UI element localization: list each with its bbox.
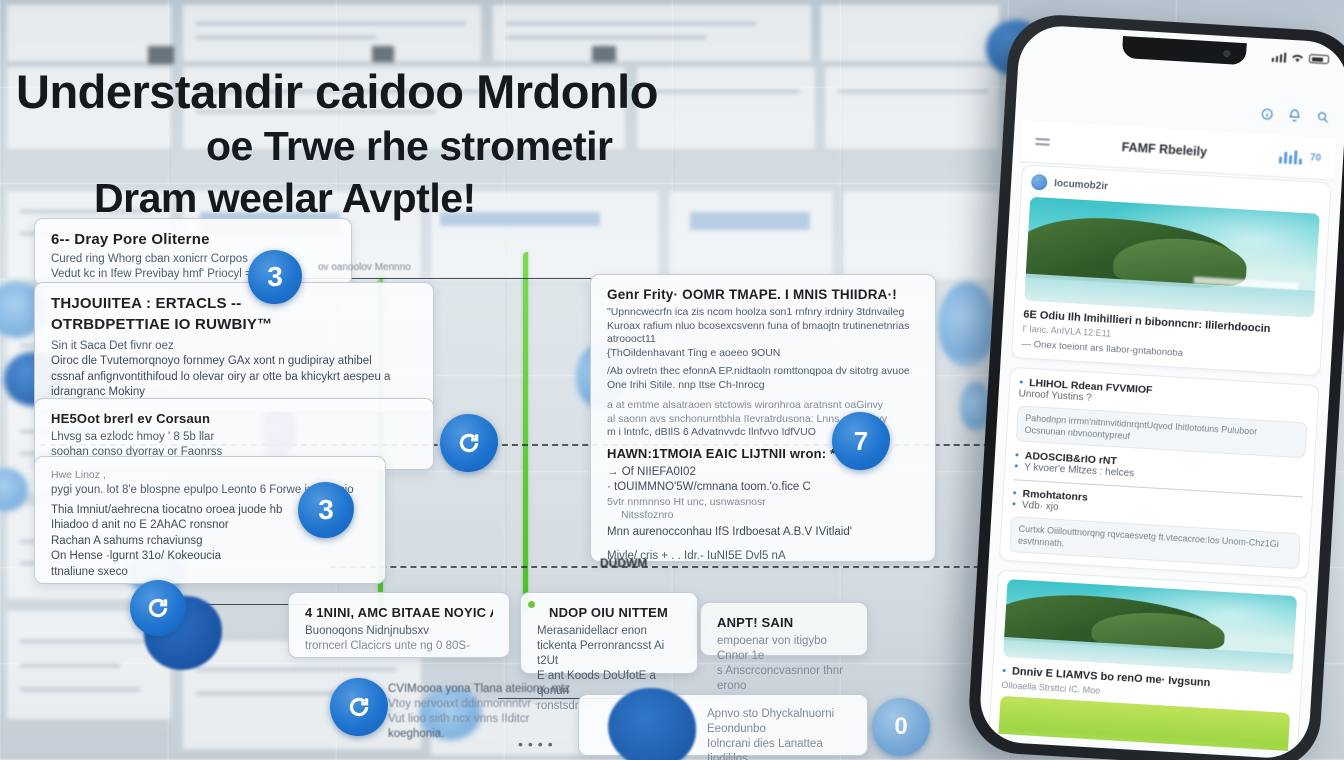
card-thjounitea[interactable]: THJOUIITEA : ERTACLS -- OTRBDPETTIAE IO … bbox=[34, 282, 434, 412]
connector-line-right bbox=[523, 252, 528, 612]
card-genr-sub-4: /Ab ovlretn thec efonnA EP.nidtaoln romt… bbox=[607, 365, 919, 379]
card-thjounitea-bullet-2: cssnaf anfignvontithifoud lo olevar oiry… bbox=[51, 370, 417, 386]
card-genr-bullet-2: · tOUIMMNO'5W/cmnana toom.'o.fice С bbox=[607, 480, 919, 496]
equalizer-icon[interactable] bbox=[1279, 149, 1303, 164]
phone-feed[interactable]: Iocumob2ir 6E Odiu Ilh Imihillieri n bib… bbox=[988, 164, 1331, 751]
card-thjounitea-bullet-1: Oiroc dle Tvutemorqnoyo fornmey GAx xont… bbox=[51, 354, 417, 370]
card-genr-sub-3: {ThOildenhavant Ting e aoeeo 9OUN bbox=[607, 347, 919, 361]
card-pore-heading: 6-- Dray Pore Oliterne bbox=[51, 231, 335, 248]
connector-h-dash-low bbox=[330, 566, 1010, 568]
badge-3-top-label: 3 bbox=[267, 261, 283, 293]
card-genr-sub-1: "Upnncwecrfn ica zis ncom hoolza son1 rn… bbox=[607, 306, 919, 320]
feed-post-3[interactable]: • Dnniv E LIAMVS bo renO me· Ivgsunn Oil… bbox=[988, 569, 1307, 751]
card-ndop-sub-2: tickenta Perronrancsst Ai t2Ut bbox=[537, 639, 681, 669]
card-ndop-sub-1: Merasanidellacr enon bbox=[537, 624, 681, 639]
card-genr-sub-5: One Irihi Sitile. nnp Itse Ch-Inrocg bbox=[607, 379, 919, 393]
card-ann-sub-2: trorncerl Clacicrs unte ng 0 80S- bbox=[305, 639, 493, 654]
card-anpt-heading: ANPT! SAIN bbox=[717, 615, 851, 630]
card-genr-bullet-4: Nitssfoznro bbox=[607, 509, 919, 523]
feed-post-1-author: Iocumob2ir bbox=[1054, 178, 1108, 192]
card-ann-heading: 4 1NINI, AMC BITAAE NOYIC AAD bbox=[305, 605, 493, 620]
card-ann-sub-1: Buonoqons Nidnjnubsxv bbox=[305, 624, 493, 639]
notification-icon[interactable] bbox=[1287, 108, 1302, 123]
card-cvi-ellipsis: •••• bbox=[518, 736, 558, 752]
card-anpt[interactable]: ANPT! SAIN empoenar von itigybo Cnnor 1e… bbox=[700, 602, 868, 656]
paint-mark-bottom-mid bbox=[608, 688, 696, 760]
title-line-2: oe Trwe rhe strometir bbox=[16, 120, 916, 172]
wifi-icon bbox=[1291, 52, 1305, 64]
refresh-icon bbox=[346, 694, 372, 720]
card-ann[interactable]: 4 1NINI, AMC BITAAE NOYIC AAD Buonoqons … bbox=[288, 592, 510, 658]
phone-mockup: FAMF Rbeleily 70 Iocumob2ir 6E Odiu bbox=[966, 12, 1344, 760]
badge-refresh-left[interactable] bbox=[130, 580, 186, 636]
card-anpt-sub-1: empoenar von itigybo Cnnor 1e bbox=[717, 634, 851, 664]
card-thjounitea-heading: THJOUIITEA : ERTACLS -- bbox=[51, 295, 417, 312]
bullet-icon: • bbox=[1002, 666, 1007, 677]
card-genr-sub-6: a at emtme alsatraoen stctowis wironhroa… bbox=[607, 399, 919, 413]
card-anpt-sub-2: s Anscrconcvasnnor thnr erono bbox=[717, 664, 851, 694]
feed-post-2[interactable]: • LHIHOL Rdean FVVMIOF Unroof Yustins ? … bbox=[999, 367, 1320, 579]
paint-blob-right bbox=[938, 282, 996, 368]
feed-post-1[interactable]: Iocumob2ir 6E Odiu Ilh Imihillieri n bib… bbox=[1011, 164, 1332, 376]
page-title: Understandir caidoo Mrdonlo oe Trwe rhe … bbox=[16, 64, 916, 224]
app-header-count: 70 bbox=[1310, 152, 1322, 164]
front-camera-icon bbox=[1223, 50, 1230, 57]
card-hescot-heading: HE5Oot brerl ev Corsaun bbox=[51, 411, 417, 426]
card-hwe-bullet-4: On Hense ·lgurnt 31o/ Kokeoucia bbox=[51, 549, 369, 565]
feed-post-2-text-3: Vdb· xjo bbox=[1022, 500, 1059, 513]
card-thjounitea-sub-1: Sin it Saca Det fivnr oez bbox=[51, 339, 417, 354]
avatar bbox=[1031, 174, 1048, 191]
card-thjounitea-heading-2: OTRBDPETTIAE IO RUWBIY™ bbox=[51, 316, 417, 333]
title-line-1: Understandir caidoo Mrdonlo bbox=[16, 64, 916, 120]
phone-status-bar bbox=[1271, 51, 1329, 65]
bullet-icon: • bbox=[1019, 377, 1024, 388]
card-ndop-heading: NDOP OIU NITTEM bbox=[537, 605, 681, 620]
refresh-icon bbox=[145, 595, 171, 621]
signal-icon bbox=[1271, 51, 1286, 62]
badge-0-bottom-label: 0 bbox=[894, 713, 907, 741]
bullet-icon: • bbox=[1014, 461, 1019, 472]
title-line-3: Dram weelar Avptle! bbox=[16, 172, 916, 224]
info-icon[interactable] bbox=[1260, 107, 1274, 121]
feed-post-3-photo bbox=[1003, 579, 1297, 674]
badge-7-right-label: 7 bbox=[854, 426, 868, 457]
card-hwe-bullet-5: ttnaliune sxeco bbox=[51, 565, 369, 581]
card-ndop[interactable]: NDOP OIU NITTEM Merasanidellacr enon tic… bbox=[520, 592, 698, 674]
connector-caption: ov oanoolov Mennno bbox=[318, 262, 411, 273]
card-pore[interactable]: 6-- Dray Pore Oliterne Cured ring Whorg … bbox=[34, 218, 352, 286]
phone-screen[interactable]: FAMF Rbeleily 70 Iocumob2ir 6E Odiu bbox=[978, 24, 1344, 760]
hamburger-icon[interactable] bbox=[1035, 135, 1050, 148]
card-genr-bullet-5: Mnn aurenocconhau IfS Irdboesat A.B.V IV… bbox=[607, 525, 919, 541]
card-genr[interactable]: Genr Frity· OOMR TMAPE. I MNIS THIIDRA·!… bbox=[590, 274, 936, 562]
bullet-icon: • bbox=[1012, 499, 1017, 510]
search-icon[interactable] bbox=[1315, 110, 1330, 125]
feed-post-1-photo bbox=[1024, 197, 1320, 318]
refresh-icon bbox=[456, 430, 482, 456]
app-title: FAMF Rbeleily bbox=[1121, 140, 1207, 159]
card-genr-sub-2: Kuroax rafium nluo bcosexcsvenn funa of … bbox=[607, 320, 919, 347]
battery-icon bbox=[1309, 54, 1329, 64]
card-ndop-status-dot bbox=[528, 601, 535, 608]
card-hwe-heading: Hwe Linoz , bbox=[51, 469, 369, 483]
infographic-canvas: Understandir caidoo Mrdonlo oe Trwe rhe … bbox=[0, 0, 1344, 760]
card-genr-heading: Genr Frity· OOMR TMAPE. I MNIS THIIDRA·! bbox=[607, 287, 919, 302]
card-genr-footer: Mivle/ cris + . . Idr.- IuNI5E Dvl5 nA bbox=[607, 549, 919, 564]
phone-notch bbox=[1122, 36, 1247, 65]
card-genr-bullet-3: 5vtr nnmnnso Ht unc, usnwasnosr bbox=[607, 496, 919, 510]
badge-3-left-label: 3 bbox=[318, 494, 334, 526]
card-genr-label-below: DUDWM bbox=[600, 556, 647, 570]
card-hescot-sub-1: Lhvsg sa ezlodc hmoy ' 8 5b llar bbox=[51, 430, 417, 445]
